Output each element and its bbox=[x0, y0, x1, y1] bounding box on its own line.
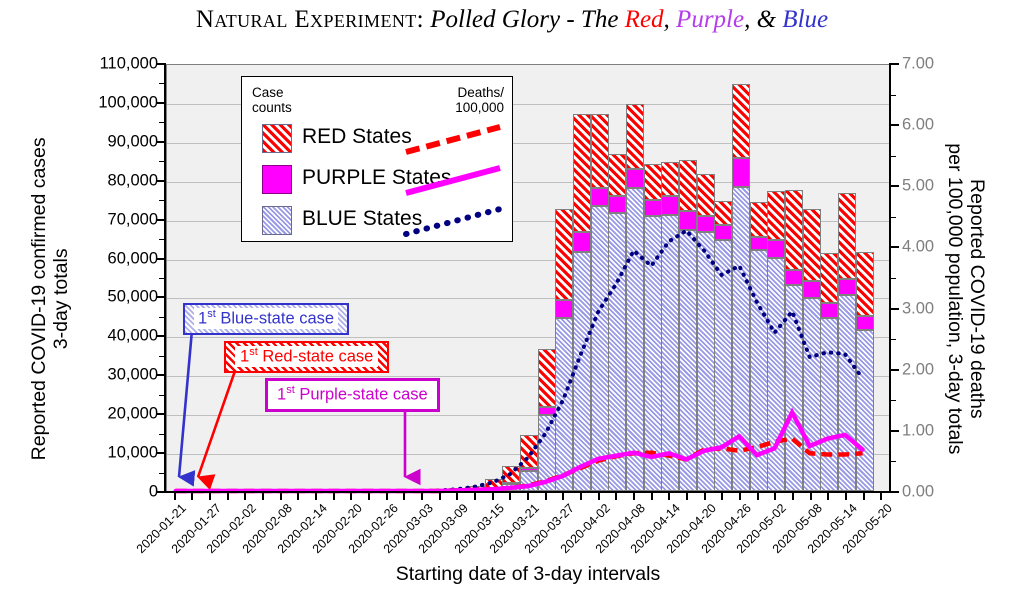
x-tick bbox=[863, 492, 865, 500]
legend-swatch-purple-icon bbox=[262, 165, 292, 194]
legend-swatch-blue-icon bbox=[262, 206, 292, 235]
y-tick-right-minor bbox=[890, 95, 896, 96]
y-axis-right-title: Reported COVID-19 deaths per 100,000 pop… bbox=[943, 79, 987, 519]
legend-header-deaths: Deaths/ 100,000 bbox=[408, 85, 504, 115]
x-tick bbox=[439, 492, 441, 500]
annot-purple-post: Purple-state case bbox=[295, 386, 428, 404]
annot-red-post: Red-state case bbox=[258, 348, 374, 366]
x-tick bbox=[704, 492, 706, 500]
x-tick bbox=[368, 492, 370, 500]
legend-header-cases-line1: Case bbox=[252, 85, 292, 100]
x-tick bbox=[810, 492, 812, 500]
legend-row-red: RED States bbox=[242, 119, 512, 159]
title-prefix: Natural Experiment: bbox=[196, 6, 424, 33]
annot-blue-sup: st bbox=[207, 308, 216, 320]
annot-purple-sup: st bbox=[286, 384, 295, 396]
annotation-purple-first-case: 1st Purple-state case bbox=[265, 378, 440, 412]
y-tick-right-minor bbox=[890, 156, 896, 157]
y-tick-left-minor bbox=[159, 434, 165, 435]
y-tick-right-minor bbox=[890, 217, 896, 218]
y-tick-right-minor bbox=[890, 400, 896, 401]
x-tick bbox=[774, 492, 776, 500]
legend-line-red-icon bbox=[402, 119, 506, 159]
y-tick-left-minor bbox=[159, 122, 165, 123]
y-tick-left-minor bbox=[159, 239, 165, 240]
title-word-blue: Blue bbox=[782, 6, 828, 33]
annot-red-pre: 1 bbox=[240, 348, 249, 366]
y-tick-right bbox=[890, 491, 899, 493]
x-tick bbox=[474, 492, 476, 500]
title-sep2: , & bbox=[744, 6, 782, 33]
y-tick-right bbox=[890, 185, 899, 187]
y-tick-label-left: 20,000 bbox=[0, 405, 158, 424]
annotation-red-first-case: 1st Red-state case bbox=[224, 341, 389, 373]
x-tick bbox=[492, 492, 494, 500]
y-tick-label-left: 70,000 bbox=[0, 210, 158, 229]
y-tick-label-left: 0 bbox=[0, 483, 158, 502]
y-tick-right-minor bbox=[890, 461, 896, 462]
y-tick-right bbox=[890, 63, 899, 65]
x-tick bbox=[280, 492, 282, 500]
y-tick-label-left: 110,000 bbox=[0, 55, 158, 74]
y-tick-label-left: 10,000 bbox=[0, 444, 158, 463]
y-tick-label-right: 7.00 bbox=[902, 55, 962, 74]
legend-header-cases-line2: counts bbox=[252, 100, 292, 115]
x-tick bbox=[262, 492, 264, 500]
x-tick bbox=[721, 492, 723, 500]
annot-blue-post: Blue-state case bbox=[216, 310, 334, 328]
y-tick-left-minor bbox=[159, 395, 165, 396]
y-left-line1: Reported COVID-19 confirmed cases bbox=[29, 79, 51, 519]
x-tick bbox=[633, 492, 635, 500]
y-left-line2: 3-day totals bbox=[51, 79, 73, 519]
x-tick bbox=[757, 492, 759, 500]
x-tick bbox=[333, 492, 335, 500]
y-tick-right bbox=[890, 430, 899, 432]
y-tick-label-left: 60,000 bbox=[0, 249, 158, 268]
annotation-blue-first-case: 1st Blue-state case bbox=[183, 303, 349, 335]
x-tick bbox=[598, 492, 600, 500]
chart-root: Natural Experiment: Polled Glory - The R… bbox=[0, 0, 1024, 598]
x-tick bbox=[668, 492, 670, 500]
x-tick bbox=[456, 492, 458, 500]
x-tick bbox=[651, 492, 653, 500]
chart-legend: Case counts Deaths/ 100,000 RED States P… bbox=[241, 76, 513, 242]
legend-header-cases: Case counts bbox=[252, 85, 292, 115]
y-tick-left-minor bbox=[159, 161, 165, 162]
x-tick bbox=[686, 492, 688, 500]
y-right-line1: Reported COVID-19 deaths bbox=[965, 79, 987, 519]
x-tick bbox=[403, 492, 405, 500]
legend-row-blue: BLUE States bbox=[242, 201, 512, 241]
x-tick bbox=[792, 492, 794, 500]
x-tick bbox=[562, 492, 564, 500]
x-tick bbox=[615, 492, 617, 500]
y-tick-left-minor bbox=[159, 473, 165, 474]
x-tick bbox=[845, 492, 847, 500]
x-tick bbox=[827, 492, 829, 500]
annot-blue-pre: 1 bbox=[198, 310, 207, 328]
y-tick-label-left: 80,000 bbox=[0, 171, 158, 190]
x-tick bbox=[527, 492, 529, 500]
title-word-purple: Purple bbox=[676, 6, 744, 33]
x-tick bbox=[350, 492, 352, 500]
y-tick-left-minor bbox=[159, 356, 165, 357]
x-tick bbox=[880, 492, 882, 500]
y-tick-right-minor bbox=[890, 339, 896, 340]
legend-row-purple: PURPLE States bbox=[242, 160, 512, 200]
x-tick bbox=[174, 492, 176, 500]
annot-purple-pre: 1 bbox=[277, 386, 286, 404]
chart-title: Natural Experiment: Polled Glory - The R… bbox=[0, 6, 1024, 34]
y-tick-label-left: 50,000 bbox=[0, 288, 158, 307]
purple-deaths-line bbox=[176, 412, 863, 491]
x-tick bbox=[227, 492, 229, 500]
x-tick bbox=[244, 492, 246, 500]
x-tick bbox=[739, 492, 741, 500]
y-tick-label-left: 30,000 bbox=[0, 366, 158, 385]
x-axis-title: Starting date of 3-day intervals bbox=[166, 563, 890, 586]
y-tick-left-minor bbox=[159, 278, 165, 279]
y-tick-label-left: 90,000 bbox=[0, 132, 158, 151]
legend-swatch-red-icon bbox=[262, 124, 292, 153]
y-tick-right-minor bbox=[890, 278, 896, 279]
y-axis-left-title: Reported COVID-19 confirmed cases 3-day … bbox=[29, 79, 73, 519]
legend-line-blue-icon bbox=[402, 201, 506, 241]
legend-header-deaths-line1: Deaths/ bbox=[408, 85, 504, 100]
x-tick bbox=[386, 492, 388, 500]
y-tick-label-left: 100,000 bbox=[0, 93, 158, 112]
title-main: Polled Glory - The bbox=[430, 6, 624, 33]
y-right-line2: per 100,000 population, 3-day totals bbox=[943, 79, 965, 519]
y-tick-right bbox=[890, 369, 899, 371]
y-tick-right bbox=[890, 308, 899, 310]
legend-header-deaths-line2: 100,000 bbox=[408, 100, 504, 115]
title-word-red: Red bbox=[625, 6, 664, 33]
x-tick bbox=[297, 492, 299, 500]
x-tick bbox=[209, 492, 211, 500]
x-tick bbox=[421, 492, 423, 500]
title-sep1: , bbox=[664, 6, 677, 33]
y-tick-right bbox=[890, 124, 899, 126]
x-tick bbox=[545, 492, 547, 500]
y-tick-left-minor bbox=[159, 83, 165, 84]
y-tick-right bbox=[890, 246, 899, 248]
x-tick bbox=[315, 492, 317, 500]
legend-line-purple-icon bbox=[402, 160, 506, 200]
annot-red-sup: st bbox=[249, 346, 258, 358]
x-tick bbox=[509, 492, 511, 500]
x-tick bbox=[580, 492, 582, 500]
y-tick-left-minor bbox=[159, 200, 165, 201]
legend-label-red: RED States bbox=[302, 125, 412, 149]
y-tick-label-left: 40,000 bbox=[0, 327, 158, 346]
x-tick bbox=[191, 492, 193, 500]
y-tick-left-minor bbox=[159, 317, 165, 318]
